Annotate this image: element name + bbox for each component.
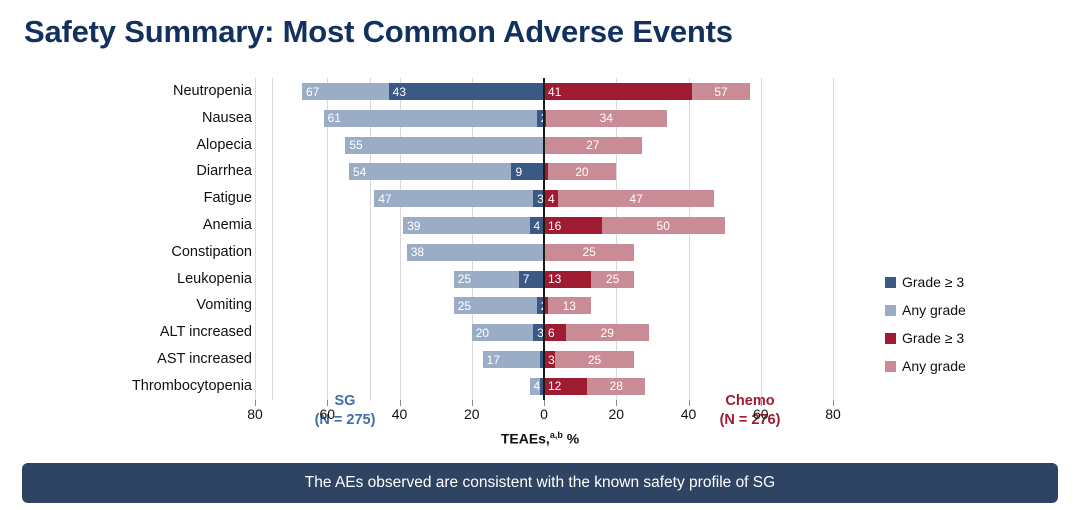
bar-chemo-any-grade: 29 bbox=[566, 324, 649, 341]
bar-value-label: 3 bbox=[548, 354, 555, 366]
legend-item[interactable]: Grade ≥ 3 bbox=[885, 324, 966, 352]
bar-chemo-grade3: 13 bbox=[544, 271, 591, 288]
bar-value-label: 47 bbox=[629, 193, 642, 205]
bar-value-label: 34 bbox=[600, 112, 613, 124]
bar-chemo-grade3: 4 bbox=[544, 190, 558, 207]
x-axis-tick-label: 20 bbox=[596, 406, 636, 422]
x-axis-tick-label: 80 bbox=[813, 406, 853, 422]
bar-value-label: 47 bbox=[378, 193, 391, 205]
bar-value-label: 6 bbox=[548, 327, 555, 339]
bar-chemo-any-grade: 50 bbox=[602, 217, 725, 234]
x-axis-tick-label: 20 bbox=[452, 406, 492, 422]
bar-value-label: 54 bbox=[353, 166, 366, 178]
x-axis-tick-label: 80 bbox=[235, 406, 275, 422]
bar-value-label: 39 bbox=[407, 220, 420, 232]
x-axis-tick-label: 40 bbox=[380, 406, 420, 422]
bar-value-label: 25 bbox=[458, 273, 471, 285]
bar-sg-any-grade: 54 bbox=[349, 163, 512, 180]
bar-value-label: 57 bbox=[714, 86, 727, 98]
bar-sg-any-grade: 61 bbox=[324, 110, 537, 127]
chart-container: Neutropenia67434157Nausea612< 134Alopeci… bbox=[0, 72, 1080, 432]
legend-swatch-chemo-grade3 bbox=[885, 333, 896, 344]
x-axis-tick-mark bbox=[400, 400, 401, 406]
x-axis-ticks: 80604020020406080 bbox=[255, 406, 833, 428]
bar-sg-grade3: 43 bbox=[389, 83, 544, 100]
bar-value-label: 61 bbox=[328, 112, 341, 124]
bar-chemo-grade3: 12 bbox=[544, 378, 587, 395]
category-label: Alopecia bbox=[32, 132, 252, 159]
bar-value-label: 13 bbox=[548, 273, 561, 285]
x-axis-title-superscript: a,b bbox=[550, 430, 563, 440]
x-axis-tick-mark bbox=[833, 400, 834, 406]
x-axis-tick-mark bbox=[761, 400, 762, 406]
category-label: Vomiting bbox=[32, 292, 252, 319]
zero-axis-line bbox=[543, 78, 545, 400]
legend-label: Grade ≥ 3 bbox=[902, 274, 964, 290]
x-axis-tick-mark bbox=[689, 400, 690, 406]
summary-banner-text: The AEs observed are consistent with the… bbox=[305, 474, 775, 492]
category-label: Thrombocytopenia bbox=[32, 373, 252, 400]
legend-label: Any grade bbox=[902, 302, 966, 318]
bar-value-label: 38 bbox=[411, 246, 424, 258]
bar-chemo-any-grade: 20 bbox=[548, 163, 617, 180]
bar-chemo-any-grade: 57 bbox=[692, 83, 750, 100]
bar-value-label: 41 bbox=[548, 86, 561, 98]
bar-value-label: 4 bbox=[534, 220, 541, 232]
bar-chemo-grade3: 6 bbox=[544, 324, 566, 341]
legend-item[interactable]: Any grade bbox=[885, 352, 966, 380]
bar-sg-any-grade: 38 bbox=[407, 244, 544, 261]
bar-value-label: 55 bbox=[349, 139, 362, 151]
slide-root: Safety Summary: Most Common Adverse Even… bbox=[0, 0, 1080, 510]
bar-value-label: 17 bbox=[487, 354, 500, 366]
legend-label: Grade ≥ 3 bbox=[902, 330, 964, 346]
x-axis-title-main: TEAEs, bbox=[501, 431, 550, 447]
page-title: Safety Summary: Most Common Adverse Even… bbox=[24, 14, 733, 50]
category-label: Diarrhea bbox=[32, 158, 252, 185]
category-label: Neutropenia bbox=[32, 78, 252, 105]
bar-sg-any-grade: 55 bbox=[345, 137, 544, 154]
bar-value-label: 16 bbox=[548, 220, 561, 232]
x-axis-title: TEAEs,a,b % bbox=[0, 430, 1080, 447]
x-axis-tick-label: 60 bbox=[307, 406, 347, 422]
legend-item[interactable]: Grade ≥ 3 bbox=[885, 268, 966, 296]
bar-sg-any-grade: 47 bbox=[374, 190, 533, 207]
legend-swatch-sg-grade3 bbox=[885, 277, 896, 288]
x-axis-tick-mark bbox=[255, 400, 256, 406]
category-label: Anemia bbox=[32, 212, 252, 239]
x-axis-title-unit: % bbox=[567, 431, 579, 447]
category-label: Nausea bbox=[32, 105, 252, 132]
bar-chemo-any-grade: 28 bbox=[587, 378, 645, 395]
category-label: Fatigue bbox=[32, 185, 252, 212]
x-axis-tick-mark bbox=[616, 400, 617, 406]
bar-chemo-any-grade: 13 bbox=[548, 297, 591, 314]
plot-area: Neutropenia67434157Nausea612< 134Alopeci… bbox=[255, 78, 833, 400]
bar-chemo-grade3: 3 bbox=[544, 351, 555, 368]
bar-value-label: 25 bbox=[582, 246, 595, 258]
bar-value-label: 50 bbox=[657, 220, 670, 232]
bar-sg-any-grade: 25 bbox=[454, 297, 537, 314]
chart-legend: Grade ≥ 3Any gradeGrade ≥ 3Any grade bbox=[885, 268, 966, 380]
gridline-80 bbox=[833, 78, 834, 400]
legend-item[interactable]: Any grade bbox=[885, 296, 966, 324]
legend-swatch-chemo-any bbox=[885, 361, 896, 372]
bar-sg-grade3: 7 bbox=[519, 271, 544, 288]
bar-value-label: 25 bbox=[588, 354, 601, 366]
bar-sg-any-grade: 39 bbox=[403, 217, 529, 234]
legend-swatch-sg-any bbox=[885, 305, 896, 316]
bar-sg-any-grade: 20 bbox=[472, 324, 533, 341]
bar-value-label: 29 bbox=[601, 327, 614, 339]
bar-value-label: 25 bbox=[458, 300, 471, 312]
bar-chemo-any-grade: 34 bbox=[546, 110, 667, 127]
x-axis-tick-label: 40 bbox=[669, 406, 709, 422]
category-label: ALT increased bbox=[32, 319, 252, 346]
bar-value-label: 43 bbox=[393, 86, 406, 98]
category-label: AST increased bbox=[32, 346, 252, 373]
bar-value-label: 7 bbox=[523, 273, 530, 285]
bar-chemo-grade3: 16 bbox=[544, 217, 602, 234]
bar-sg-grade3: 9 bbox=[511, 163, 544, 180]
bar-value-label: 20 bbox=[476, 327, 489, 339]
bar-value-label: 27 bbox=[586, 139, 599, 151]
category-label: Leukopenia bbox=[32, 266, 252, 293]
bar-value-label: 4 bbox=[534, 380, 541, 392]
bar-chemo-any-grade: 27 bbox=[544, 137, 642, 154]
bar-value-label: 12 bbox=[548, 380, 561, 392]
bar-sg-any-grade: 17 bbox=[483, 351, 541, 368]
x-axis-tick-label: 60 bbox=[741, 406, 781, 422]
bar-value-label: 25 bbox=[606, 273, 619, 285]
x-axis-tick-mark bbox=[544, 400, 545, 406]
x-axis-tick-label: 0 bbox=[524, 406, 564, 422]
bar-sg-any-grade: 67 bbox=[302, 83, 389, 100]
bar-chemo-any-grade: 25 bbox=[544, 244, 634, 261]
bar-chemo-grade3: 41 bbox=[544, 83, 692, 100]
x-axis-tick-mark bbox=[327, 400, 328, 406]
bar-sg-any-grade: 4 bbox=[530, 378, 541, 395]
bar-value-label: 67 bbox=[306, 86, 319, 98]
bar-sg-any-grade: 25 bbox=[454, 271, 519, 288]
bar-value-label: 4 bbox=[548, 193, 555, 205]
category-label: Constipation bbox=[32, 239, 252, 266]
bar-chemo-any-grade: 25 bbox=[555, 351, 634, 368]
legend-label: Any grade bbox=[902, 358, 966, 374]
bar-value-label: 28 bbox=[610, 380, 623, 392]
bar-chemo-any-grade: 25 bbox=[591, 271, 634, 288]
x-axis-tick-mark bbox=[472, 400, 473, 406]
summary-banner: The AEs observed are consistent with the… bbox=[22, 463, 1058, 503]
bar-value-label: 13 bbox=[563, 300, 576, 312]
bar-sg-grade3: 4 bbox=[530, 217, 544, 234]
bar-value-label: 20 bbox=[575, 166, 588, 178]
bar-value-label: 9 bbox=[515, 166, 522, 178]
bar-chemo-any-grade: 47 bbox=[558, 190, 713, 207]
